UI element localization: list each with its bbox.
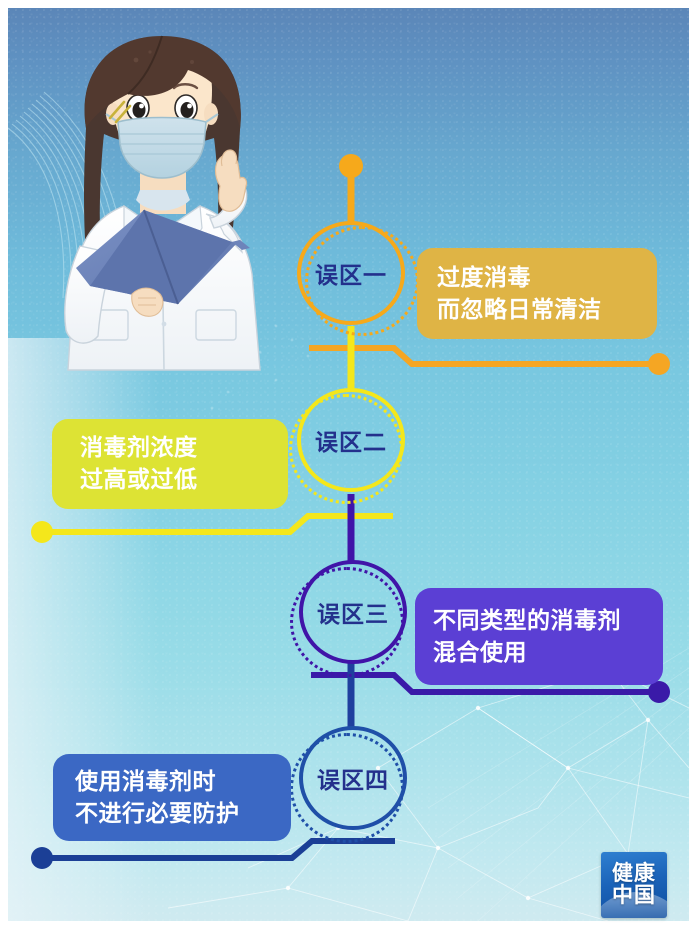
- connector-2-end-dot: [31, 521, 53, 543]
- timeline-node-3[interactable]: 误区三: [299, 560, 407, 664]
- caption-3-line-2: 混合使用: [433, 637, 663, 669]
- caption-box-1: 过度消毒 而忽略日常清洁: [417, 248, 657, 339]
- caption-box-3: 不同类型的消毒剂 混合使用: [415, 588, 663, 685]
- connector-4-end-dot: [31, 847, 53, 869]
- healthy-china-logo: 健康 中国: [601, 852, 667, 918]
- node-4-label: 误区四: [317, 761, 389, 795]
- caption-box-4: 使用消毒剂时 不进行必要防护: [53, 754, 291, 841]
- caption-1-line-1: 过度消毒: [437, 262, 657, 294]
- poster-root: 误区一 误区二 误区三 误区四 过度消毒 而忽略日常清洁 消毒剂浓度 过高或过低…: [0, 0, 697, 929]
- connector-2-left: [50, 516, 390, 532]
- connector-4-left: [50, 841, 392, 858]
- caption-2-line-2: 过高或过低: [80, 464, 288, 496]
- timeline-node-2[interactable]: 误区二: [297, 388, 405, 492]
- logo-line-1: 健康: [612, 863, 656, 885]
- node-2-label: 误区二: [315, 423, 387, 457]
- connector-1-right: [312, 348, 652, 364]
- node-1-label: 误区一: [315, 256, 387, 290]
- caption-1-line-2: 而忽略日常清洁: [437, 294, 657, 326]
- timeline-node-4[interactable]: 误区四: [299, 726, 407, 830]
- caption-box-2: 消毒剂浓度 过高或过低: [52, 419, 288, 509]
- node-3-label: 误区三: [317, 595, 389, 629]
- connector-1-end-dot: [648, 353, 670, 375]
- caption-4-line-1: 使用消毒剂时: [75, 766, 291, 798]
- caption-3-line-1: 不同类型的消毒剂: [433, 605, 663, 637]
- caption-2-line-1: 消毒剂浓度: [80, 432, 288, 464]
- logo-line-2: 中国: [612, 885, 656, 907]
- timeline-node-1[interactable]: 误区一: [297, 221, 405, 325]
- caption-4-line-2: 不进行必要防护: [75, 798, 291, 830]
- timeline-top-dot: [339, 154, 363, 224]
- logo-text: 健康 中国: [601, 852, 667, 918]
